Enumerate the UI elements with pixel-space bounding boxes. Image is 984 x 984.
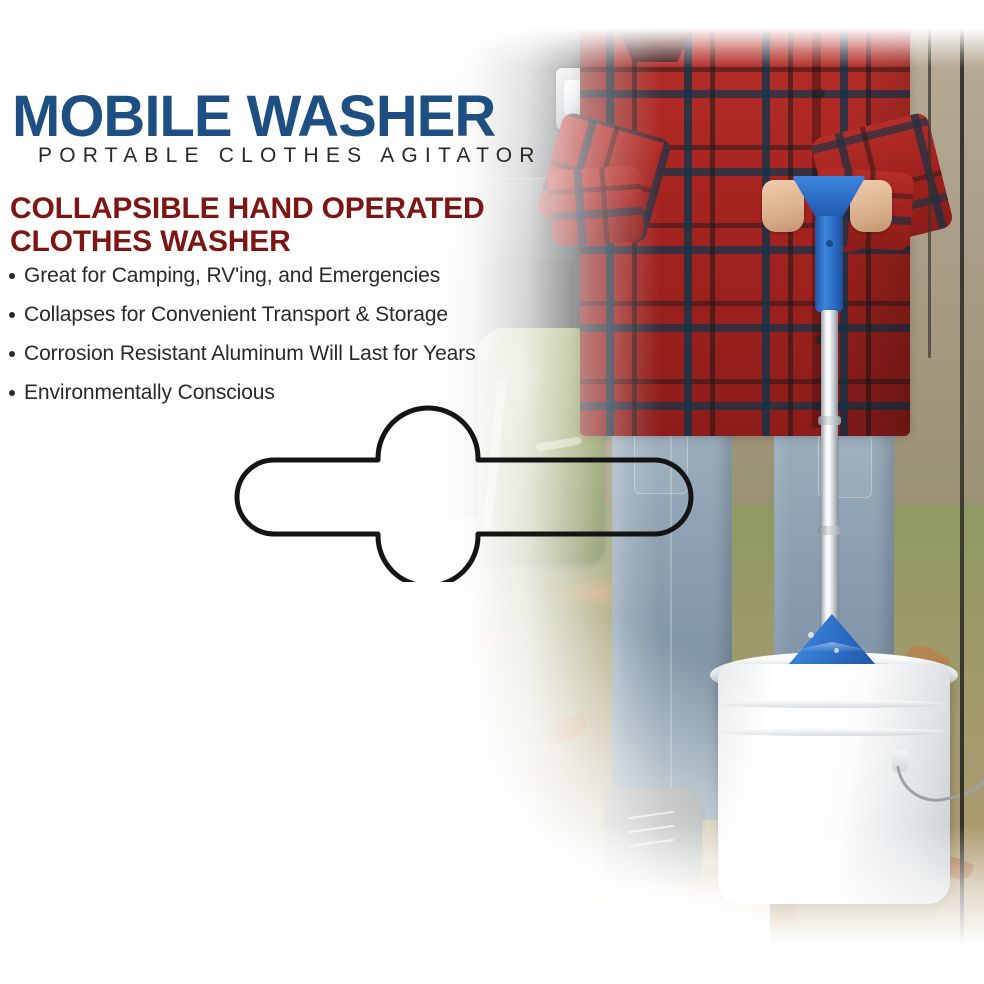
page-subtitle: PORTABLE CLOTHES AGITATOR xyxy=(38,145,542,167)
page-title: MOBILE WASHER xyxy=(12,88,495,146)
background-branch xyxy=(928,28,931,358)
feature-list: Great for Camping, RV'ing, and Emergenci… xyxy=(8,264,528,420)
handle-rivet xyxy=(826,240,833,247)
headline-line-2: CLOTHES WASHER xyxy=(10,225,540,258)
background-post xyxy=(960,28,964,946)
headline: COLLAPSIBLE HAND OPERATED CLOTHES WASHER xyxy=(10,192,540,258)
aluminum-pole xyxy=(821,310,838,650)
list-item: Corrosion Resistant Aluminum Will Last f… xyxy=(8,342,528,365)
list-item: Great for Camping, RV'ing, and Emergenci… xyxy=(8,264,528,287)
pole-joint xyxy=(818,526,841,535)
photo-fade-corner xyxy=(430,526,770,946)
list-item: Environmentally Conscious xyxy=(8,381,528,404)
product-marketing-image: MOBILE WASHER PORTABLE CLOTHES AGITATOR … xyxy=(0,0,984,984)
left-hand xyxy=(762,180,804,232)
list-item: Collapses for Convenient Transport & Sto… xyxy=(8,303,528,326)
headline-line-1: COLLAPSIBLE HAND OPERATED xyxy=(10,192,540,225)
pole-joint xyxy=(818,416,841,425)
handle-neck xyxy=(815,216,843,312)
